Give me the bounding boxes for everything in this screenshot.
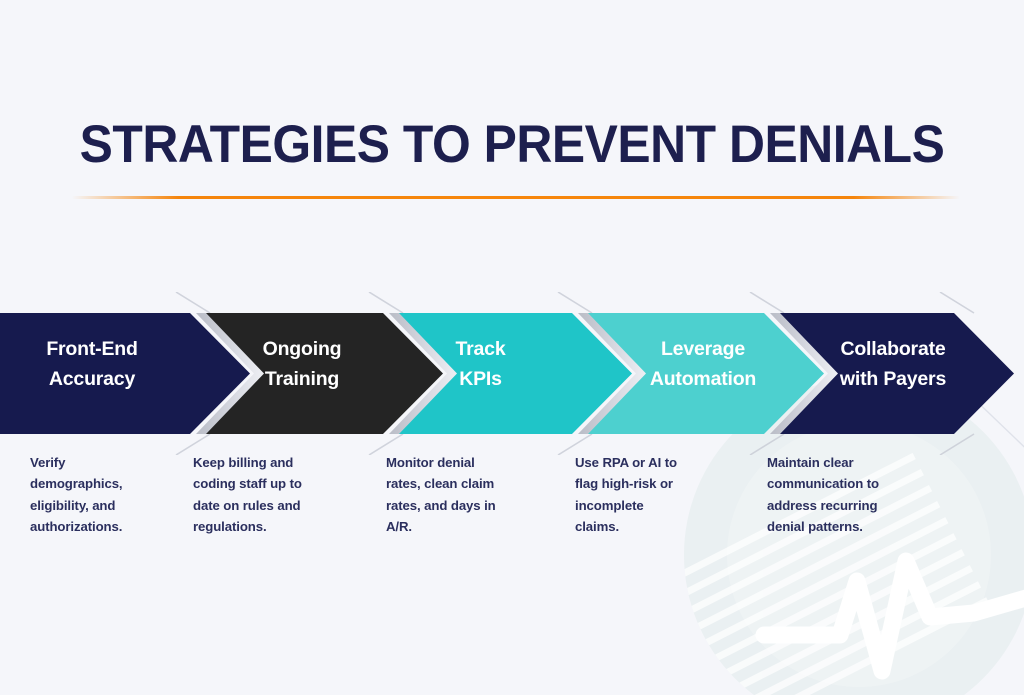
page-title: STRATEGIES TO PREVENT DENIALS (31, 116, 994, 173)
title-underline-rule (72, 196, 960, 199)
title-block: STRATEGIES TO PREVENT DENIALS (0, 116, 1024, 173)
caption-step-5: Maintain clear communication to address … (767, 452, 937, 538)
chevron-label-4: Leverage Automation (610, 334, 796, 394)
process-chevron-band: Front-End Accuracy Ongoing Training Trac… (0, 292, 1024, 455)
chevron-label-3: Track KPIs (418, 334, 543, 394)
caption-step-2: Keep billing and coding staff up to date… (193, 452, 353, 538)
caption-row: Verify demographics, eligibility, and au… (0, 452, 1024, 562)
chevron-label-5: Collaborate with Payers (800, 334, 986, 394)
infographic-page: STRATEGIES TO PREVENT DENIALS (0, 0, 1024, 695)
chevron-label-1: Front-End Accuracy (12, 334, 172, 394)
chevron-label-2: Ongoing Training (222, 334, 382, 394)
caption-step-3: Monitor denial rates, clean claim rates,… (386, 452, 546, 538)
caption-step-1: Verify demographics, eligibility, and au… (30, 452, 185, 538)
caption-step-4: Use RPA or AI to flag high-risk or incom… (575, 452, 735, 538)
